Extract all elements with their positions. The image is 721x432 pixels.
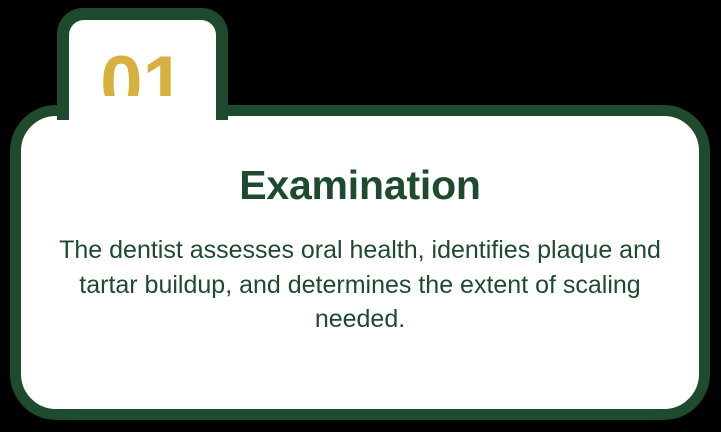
step-title: Examination	[239, 165, 481, 206]
step-card-stage: 01 Examination The dentist assesses oral…	[0, 0, 721, 432]
step-description: The dentist assesses oral health, identi…	[50, 233, 670, 337]
tab-card-seam	[69, 96, 216, 114]
